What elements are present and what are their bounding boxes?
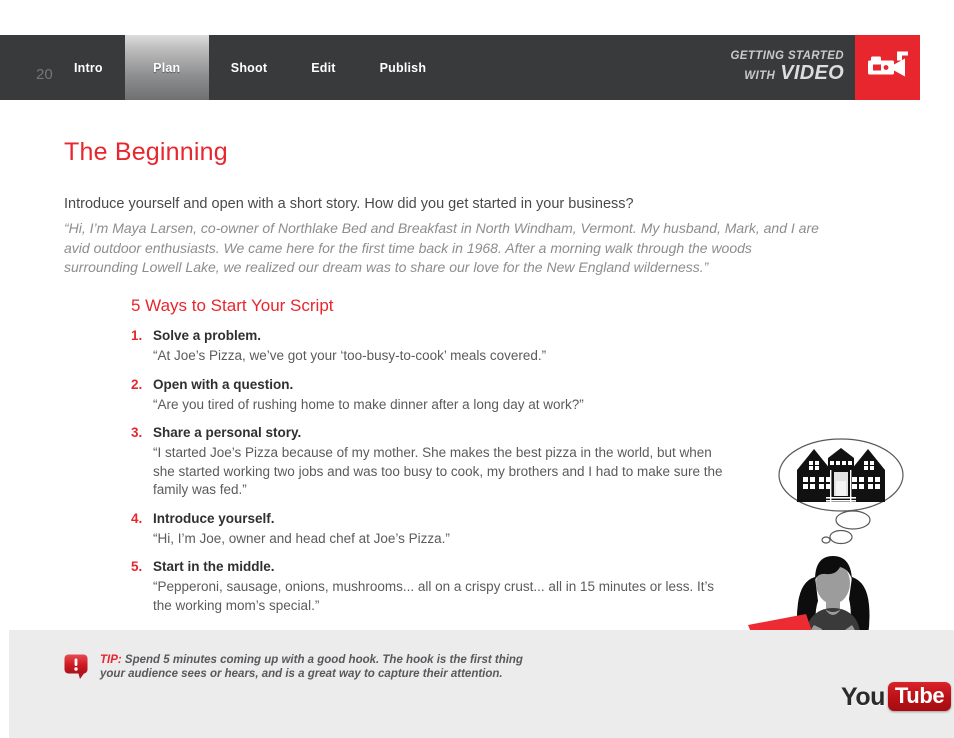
- script-ways-list: 5 Ways to Start Your Script 1. Solve a p…: [131, 296, 731, 624]
- brand-wordmark: GETTING STARTED WITH VIDEO: [672, 35, 852, 100]
- brand-with-label: WITH: [744, 66, 775, 86]
- footer-band: TIP: Spend 5 minutes coming up with a go…: [9, 630, 954, 738]
- list-item: 2. Open with a question. “Are you tired …: [131, 375, 731, 415]
- list-item-number: 5.: [131, 557, 153, 615]
- list-item-number: 3.: [131, 423, 153, 500]
- brand-line-getting-started: GETTING STARTED: [730, 49, 844, 63]
- youtube-logo[interactable]: You Tube: [841, 682, 951, 711]
- list-item-title: Share a personal story.: [153, 423, 731, 442]
- list-item-body: Open with a question. “Are you tired of …: [153, 375, 731, 415]
- list-heading: 5 Ways to Start Your Script: [131, 296, 731, 316]
- thought-bubble-house-icon: [779, 439, 903, 544]
- list-item-number: 4.: [131, 509, 153, 549]
- list-item-body: Introduce yourself. “Hi, I’m Joe, owner …: [153, 509, 731, 549]
- nav-tab-shoot[interactable]: Shoot: [209, 35, 289, 100]
- list-item-body: Solve a problem. “At Joe’s Pizza, we’ve …: [153, 326, 731, 366]
- list-item-title: Introduce yourself.: [153, 509, 731, 528]
- list-item-number: 2.: [131, 375, 153, 415]
- list-item: 1. Solve a problem. “At Joe’s Pizza, we’…: [131, 326, 731, 366]
- list-item-quote: “I started Joe’s Pizza because of my mot…: [153, 444, 731, 500]
- list-item-body: Share a personal story. “I started Joe’s…: [153, 423, 731, 500]
- page-title: The Beginning: [64, 138, 228, 167]
- brand-line-with-video: WITH VIDEO: [744, 63, 844, 86]
- nav-tab-label: Publish: [380, 61, 427, 75]
- list-item-title: Start in the middle.: [153, 557, 731, 576]
- nav-tab-edit[interactable]: Edit: [289, 35, 357, 100]
- page-number: 20: [36, 66, 53, 83]
- tip-body: Spend 5 minutes coming up with a good ho…: [100, 654, 523, 680]
- list-item-title: Solve a problem.: [153, 326, 731, 345]
- top-navigation-bar: Intro Plan Shoot Edit Publish GETTING ST…: [0, 35, 920, 100]
- nav-tab-label: Shoot: [231, 61, 267, 75]
- list-item: 3. Share a personal story. “I started Jo…: [131, 423, 731, 500]
- list-item-body: Start in the middle. “Pepperoni, sausage…: [153, 557, 731, 615]
- nav-tab-intro[interactable]: Intro: [52, 35, 125, 100]
- page-root: Intro Plan Shoot Edit Publish GETTING ST…: [0, 0, 954, 738]
- nav-tab-list: Intro Plan Shoot Edit Publish: [52, 35, 448, 100]
- list-item: 4. Introduce yourself. “Hi, I’m Joe, own…: [131, 509, 731, 549]
- brand-logo-block: [855, 35, 920, 100]
- list-item: 5. Start in the middle. “Pepperoni, saus…: [131, 557, 731, 615]
- youtube-tube-badge: Tube: [888, 682, 951, 711]
- brand-video-label: VIDEO: [780, 63, 844, 83]
- tip-label: TIP:: [100, 654, 122, 666]
- nav-tab-plan[interactable]: Plan: [125, 35, 209, 100]
- exclamation-speech-bubble-icon: [64, 654, 90, 685]
- list-item-number: 1.: [131, 326, 153, 366]
- nav-tab-label: Intro: [74, 61, 103, 75]
- intro-example-quote: “Hi, I’m Maya Larsen, co-owner of Northl…: [64, 219, 824, 278]
- tip-text: TIP: Spend 5 minutes coming up with a go…: [100, 653, 530, 681]
- nav-tab-publish[interactable]: Publish: [358, 35, 449, 100]
- tip-callout: TIP: Spend 5 minutes coming up with a go…: [64, 653, 530, 685]
- page-content: The Beginning Introduce yourself and ope…: [0, 100, 920, 630]
- list-item-quote: “At Joe’s Pizza, we’ve got your ‘too-bus…: [153, 347, 731, 366]
- list-item-title: Open with a question.: [153, 375, 731, 394]
- nav-tab-label: Plan: [153, 61, 180, 75]
- youtube-you-text: You: [841, 684, 885, 710]
- list-item-quote: “Pepperoni, sausage, onions, mushrooms..…: [153, 578, 731, 615]
- list-item-quote: “Are you tired of rushing home to make d…: [153, 396, 731, 415]
- camcorder-icon: [867, 51, 909, 84]
- nav-tab-label: Edit: [311, 61, 335, 75]
- list-item-quote: “Hi, I’m Joe, owner and head chef at Joe…: [153, 530, 731, 549]
- intro-prompt-text: Introduce yourself and open with a short…: [64, 196, 634, 212]
